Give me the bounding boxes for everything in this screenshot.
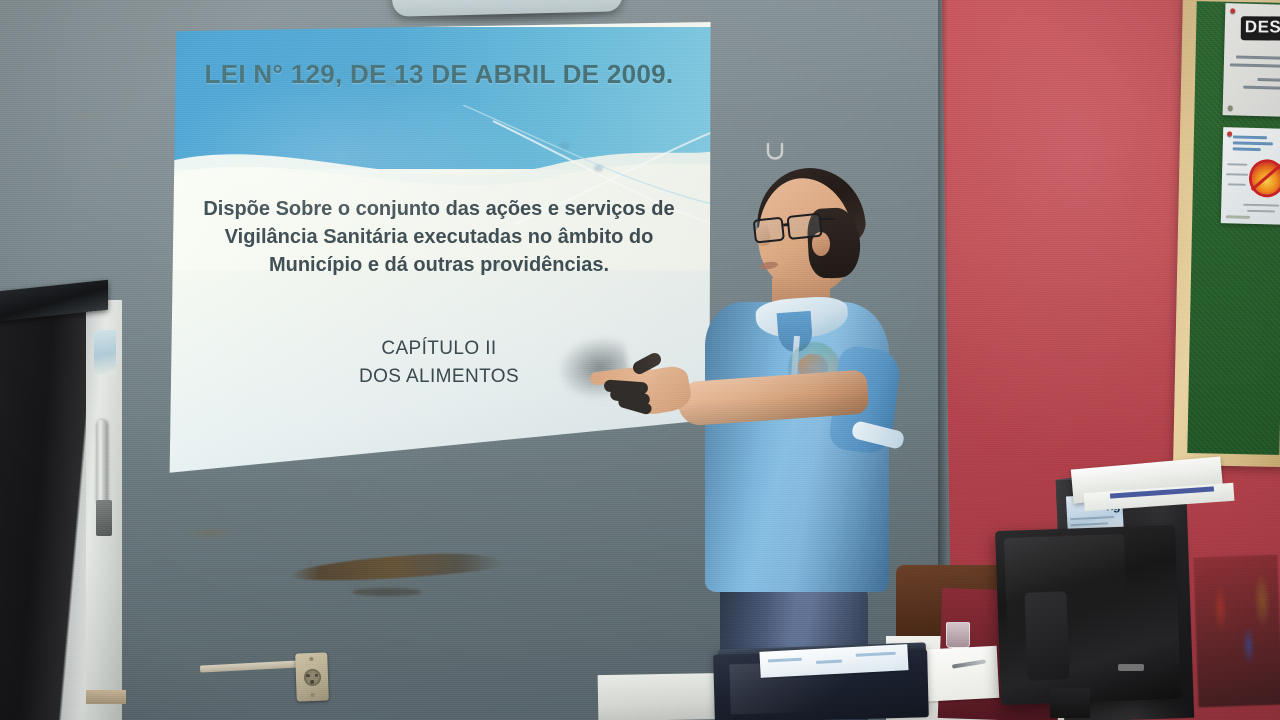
presenter-pointing-hand <box>588 355 696 417</box>
refrigerator-latch[interactable] <box>96 500 112 536</box>
outlet-screw-bottom <box>311 693 315 697</box>
poster-text-line <box>1230 63 1280 68</box>
poster-text-line <box>1226 173 1248 176</box>
slide-title: LEI N° 129, DE 13 DE ABRIL DE 2009. <box>202 57 677 92</box>
wall-damage-stain-secondary <box>352 588 422 596</box>
monitor-stand <box>1050 688 1090 718</box>
outlet-pin <box>310 680 314 684</box>
outlet-socket <box>303 668 321 686</box>
glasses-temple <box>819 218 835 220</box>
paper-mark <box>856 652 896 657</box>
poster-pin <box>1230 8 1235 13</box>
notice-poster: DES <box>1223 3 1280 117</box>
poster-text-line <box>1257 78 1280 82</box>
photo-scene: LEI N° 129, DE 13 DE ABRIL DE 2009. Disp… <box>0 0 1280 720</box>
poster-heading-text: DES <box>1245 17 1280 37</box>
paper-mark <box>768 658 802 663</box>
monitor-logo <box>1118 664 1144 671</box>
cable-bundle <box>1193 555 1280 708</box>
poster-text-line <box>1243 204 1279 207</box>
poster-pin <box>1228 105 1233 110</box>
poster-text-line <box>1228 183 1246 185</box>
poster-heading-band: DES <box>1241 16 1280 41</box>
paper-mark <box>816 660 842 664</box>
poster-text-line <box>1227 163 1247 166</box>
poster-text-line <box>1233 135 1267 139</box>
refrigerator-sticker <box>94 330 116 374</box>
refrigerator-base <box>86 690 126 704</box>
outlet-pin <box>314 673 318 677</box>
poster-pin <box>1227 131 1232 136</box>
poster-text-line <box>1226 215 1250 219</box>
wall-power-outlet <box>295 652 329 701</box>
tower-sticker-line <box>1070 522 1108 526</box>
glasses-lens-right <box>786 213 822 240</box>
poster-text-line <box>1233 147 1261 151</box>
poster-text-line <box>1247 210 1275 213</box>
slide-speck <box>560 142 570 150</box>
tower-sticker-line <box>1070 516 1114 520</box>
desk-surface-left <box>598 673 731 720</box>
monitor-back-housing <box>1024 591 1069 680</box>
poster-text-line <box>1236 55 1280 59</box>
poster-text-line <box>1243 86 1280 90</box>
poster-text-line <box>1233 141 1273 145</box>
presenter <box>560 150 960 720</box>
fire-safety-poster <box>1221 127 1280 225</box>
outlet-pin <box>306 674 310 678</box>
refrigerator-handle[interactable] <box>96 420 107 506</box>
glasses-lens-left <box>753 217 785 244</box>
outlet-screw-top <box>309 657 313 661</box>
